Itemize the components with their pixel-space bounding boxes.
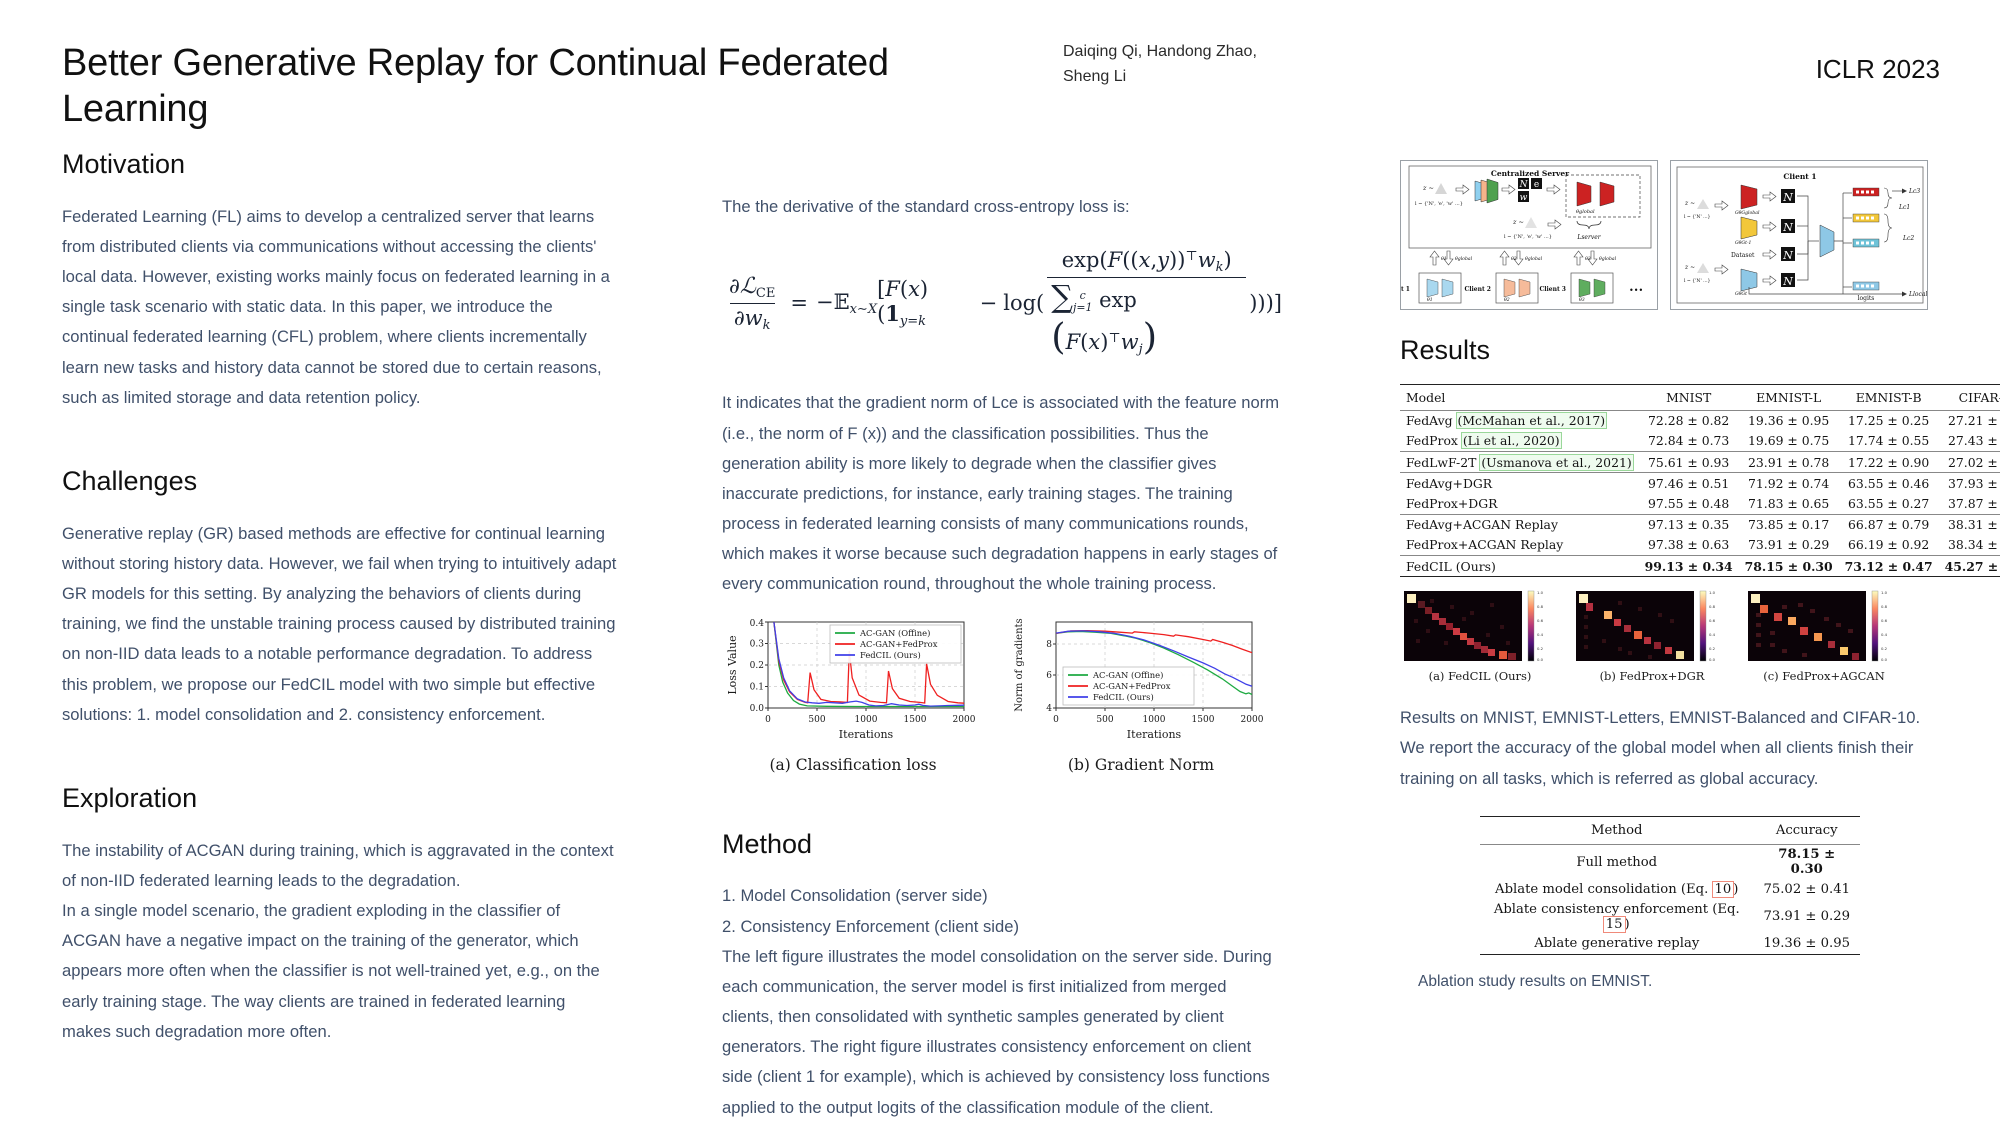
section-exploration: Exploration The instability of ACGAN dur… (62, 784, 617, 1047)
svg-text:Iterations: Iterations (839, 728, 894, 741)
svg-text:θ2: θ2 (1511, 256, 1517, 262)
results-cell: 19.69 ± 0.75 (1739, 431, 1839, 452)
svg-text:FedCIL (Ours): FedCIL (Ours) (860, 650, 921, 660)
svg-text:Llocal: Llocal (1908, 291, 1927, 298)
svg-text:0: 0 (765, 715, 771, 725)
svg-text:Lc1: Lc1 (1898, 204, 1910, 211)
results-model-name: FedProx+ACGAN Replay (1400, 535, 1639, 556)
challenges-paragraph: Generative replay (GR) based methods are… (62, 519, 617, 730)
svg-text:l ~ {'N', 'e', 'w' ...}: l ~ {'N', 'e', 'w' ...} (1504, 234, 1552, 240)
table-row: FedProx+DGR 97.55 ± 0.48 71.83 ± 0.65 63… (1400, 493, 2000, 514)
results-cell: 19.36 ± 0.95 (1739, 410, 1839, 431)
svg-text:θ3: θ3 (1579, 297, 1585, 303)
svg-text:θ1: θ1 (1427, 297, 1433, 303)
svg-text:1500: 1500 (1192, 715, 1215, 725)
results-col-emnist-b: EMNIST-B (1839, 384, 1939, 410)
svg-text:0.2: 0.2 (1709, 646, 1716, 651)
svg-text:0.4: 0.4 (750, 619, 765, 629)
svg-text:0.2: 0.2 (1881, 646, 1888, 651)
ablation-col-accuracy: Accuracy (1753, 816, 1860, 844)
method-item-2: 2. Consistency Enforcement (client side) (722, 912, 1282, 942)
svg-text:θ1: θ1 (1441, 256, 1447, 262)
results-cell: 37.87 ± 2.47 (1939, 493, 2000, 514)
svg-text:θ2: θ2 (1504, 297, 1510, 303)
results-cell: 63.55 ± 0.27 (1839, 493, 1939, 514)
client-architecture-diagram: Client 1 z ~ l ~ {'N' ...} GθGglobal GθG… (1670, 160, 1928, 310)
svg-text:0.6: 0.6 (1709, 618, 1716, 623)
ablation-caption: Ablation study results on EMNIST. (1400, 973, 1940, 991)
poster-root: Better Generative Replay for Continual F… (0, 0, 2000, 1125)
svg-text:N: N (1782, 275, 1793, 288)
results-cell: 63.55 ± 0.46 (1839, 473, 1939, 494)
svg-text:AC-GAN (Offine): AC-GAN (Offine) (1092, 670, 1163, 680)
confusion-matrix-a-caption: (a) FedCIL (Ours) (1400, 669, 1560, 683)
method-item-1: 1. Model Consolidation (server side) (722, 881, 1282, 911)
svg-text:l ~ {'N', 'e', 'w' ...}: l ~ {'N', 'e', 'w' ...} (1415, 201, 1463, 207)
svg-text:500: 500 (808, 715, 825, 725)
exploration-heading: Exploration (62, 784, 617, 814)
svg-text:GθGglobal: GθGglobal (1735, 210, 1760, 216)
svg-text:Loss Value: Loss Value (726, 635, 739, 694)
table-row: FedProx (Li et al., 2020) 72.84 ± 0.73 1… (1400, 431, 2000, 452)
results-cell: 27.02 ± 2.38 (1939, 452, 2000, 473)
svg-text:z ~: z ~ (1512, 218, 1524, 226)
svg-text:θglobal: θglobal (1599, 256, 1617, 262)
results-cell: 99.13 ± 0.34 (1639, 556, 1739, 577)
svg-text:1000: 1000 (855, 715, 878, 725)
svg-text:0.4: 0.4 (1881, 632, 1888, 637)
svg-text:1500: 1500 (904, 715, 927, 725)
ablation-method-tail: ) (1733, 882, 1738, 897)
confusion-matrix-c: 1.00.80.6 0.40.20.0 (c) FedProx+AGCAN (1744, 589, 1904, 683)
gradient-norm-caption: (b) Gradient Norm (1010, 756, 1272, 774)
results-citation: (Li et al., 2020) (1462, 433, 1561, 448)
classification-loss-plot: 0.0 0.1 0.2 0.3 0.4 (722, 614, 984, 742)
svg-text:0.1: 0.1 (750, 682, 764, 692)
results-cell: 73.85 ± 0.17 (1739, 514, 1839, 535)
svg-text:logits: logits (1858, 295, 1875, 302)
svg-text:l ~ {'N' ...}: l ~ {'N' ...} (1684, 278, 1711, 284)
results-cell: 17.74 ± 0.55 (1839, 431, 1939, 452)
svg-text:e: e (1534, 180, 1539, 190)
svg-text:N: N (1782, 249, 1793, 262)
column-middle: The the derivative of the standard cross… (722, 150, 1282, 1137)
svg-text:θglobal: θglobal (1455, 256, 1473, 262)
svg-text:•••: ••• (1629, 286, 1643, 295)
svg-text:8: 8 (1046, 640, 1052, 650)
derivative-intro: The the derivative of the standard cross… (722, 192, 1282, 222)
svg-text:0.0: 0.0 (1537, 657, 1544, 662)
equation-ref: 10 (1713, 882, 1734, 897)
results-model-name: FedAvg+DGR (1400, 473, 1639, 494)
table-row: Full method 78.15 ± 0.30 (1480, 844, 1860, 879)
results-cell: 27.43 ± 2.46 (1939, 431, 2000, 452)
results-caption: Results on MNIST, EMNIST-Letters, EMNIST… (1400, 703, 1930, 794)
section-challenges: Challenges Generative replay (GR) based … (62, 467, 617, 730)
confusion-matrix-c-svg: 1.00.80.6 0.40.20.0 (1744, 589, 1904, 663)
results-model-name: FedProx (1406, 433, 1462, 448)
author-line-2: Sheng Li (1063, 65, 1353, 90)
page-title: Better Generative Replay for Continual F… (62, 40, 962, 133)
svg-text:0.4: 0.4 (1537, 632, 1544, 637)
author-line-1: Daiqing Qi, Handong Zhao, (1063, 40, 1353, 65)
svg-text:Lc3: Lc3 (1908, 188, 1920, 195)
confusion-matrix-a: 1.00.80.6 0.40.20.0 (a) FedCIL (Ours) (1400, 589, 1560, 683)
table-row: FedLwF-2T (Usmanova et al., 2021) 75.61 … (1400, 452, 2000, 473)
svg-text:z ~: z ~ (1684, 264, 1695, 271)
ablation-method-name: Full method (1576, 855, 1657, 870)
ablation-method-name: Ablate consistency enforcement (Eq. (1494, 902, 1740, 917)
svg-text:0.8: 0.8 (1537, 604, 1544, 609)
ablation-table: Method Accuracy Full method 78.15 ± 0.30… (1480, 816, 1860, 955)
svg-text:Norm of gradients: Norm of gradients (1014, 618, 1025, 711)
client-diagram-svg: Client 1 z ~ l ~ {'N' ...} GθGglobal GθG… (1671, 161, 1928, 310)
confusion-matrix-b-caption: (b) FedProx+DGR (1572, 669, 1732, 683)
method-heading: Method (722, 830, 1282, 860)
svg-text:Lc2: Lc2 (1902, 235, 1914, 242)
motivation-paragraph: Federated Learning (FL) aims to develop … (62, 202, 617, 413)
figure-classification-loss: 0.0 0.1 0.2 0.3 0.4 (722, 614, 984, 774)
svg-text:4: 4 (1046, 704, 1052, 714)
column-right: Centralized Server z ~ l ~ {'N', 'e', 'w… (1400, 160, 1940, 991)
svg-text:0.2: 0.2 (750, 661, 764, 671)
ablation-accuracy: 19.36 ± 0.95 (1753, 934, 1860, 954)
results-cell: 17.25 ± 0.25 (1839, 410, 1939, 431)
table-row: Ablate consistency enforcement (Eq. 15) … (1480, 899, 1860, 934)
results-table: Model MNIST EMNIST-L EMNIST-B CIFAR-10 F… (1400, 384, 2000, 578)
ablation-method-name: Ablate generative replay (1480, 934, 1753, 954)
exploration-paragraph-2: In a single model scenario, the gradient… (62, 896, 617, 1047)
svg-text:0.8: 0.8 (1709, 604, 1716, 609)
ablation-accuracy: 78.15 ± 0.30 (1753, 844, 1860, 879)
results-cell: 97.46 ± 0.51 (1639, 473, 1739, 494)
results-cell: 71.83 ± 0.65 (1739, 493, 1839, 514)
svg-text:FedCIL (Ours): FedCIL (Ours) (1093, 692, 1154, 702)
results-citation: (McMahan et al., 2017) (1457, 413, 1607, 428)
results-cell: 75.61 ± 0.93 (1639, 452, 1739, 473)
svg-text:2000: 2000 (953, 715, 976, 725)
svg-text:AC-GAN+FedProx: AC-GAN+FedProx (859, 639, 938, 649)
svg-text:0.8: 0.8 (1881, 604, 1888, 609)
svg-text:1.0: 1.0 (1881, 590, 1888, 595)
results-model-name: FedCIL (Ours) (1400, 556, 1639, 577)
confusion-matrix-row: 1.00.80.6 0.40.20.0 (a) FedCIL (Ours) (1400, 589, 1904, 683)
author-list: Daiqing Qi, Handong Zhao, Sheng Li (1063, 40, 1353, 90)
results-col-cifar10: CIFAR-10 (1939, 384, 2000, 410)
svg-text:6: 6 (1046, 671, 1052, 681)
results-cell: 97.13 ± 0.35 (1639, 514, 1739, 535)
results-citation: (Usmanova et al., 2021) (1480, 455, 1632, 470)
results-model-name: FedProx+DGR (1400, 493, 1639, 514)
results-cell: 73.12 ± 0.47 (1839, 556, 1939, 577)
svg-text:N: N (1519, 180, 1529, 190)
results-model-name: FedAvg (1406, 413, 1457, 428)
results-col-emnist-l: EMNIST-L (1739, 384, 1839, 410)
results-cell: 27.21 ± 2.39 (1939, 410, 2000, 431)
ablation-method-tail: ) (1625, 917, 1630, 932)
svg-text:θ3: θ3 (1585, 256, 1591, 262)
results-cell: 97.38 ± 0.63 (1639, 535, 1739, 556)
table-row: FedAvg+DGR 97.46 ± 0.51 71.92 ± 0.74 63.… (1400, 473, 2000, 494)
svg-text:Iterations: Iterations (1127, 728, 1182, 741)
confusion-matrix-c-caption: (c) FedProx+AGCAN (1744, 669, 1904, 683)
results-cell: 73.91 ± 0.29 (1739, 535, 1839, 556)
results-cell: 97.55 ± 0.48 (1639, 493, 1739, 514)
svg-text:1.0: 1.0 (1709, 590, 1716, 595)
gradient-norm-svg: 4 6 8 (1010, 614, 1272, 742)
svg-text:Client 3: Client 3 (1539, 286, 1566, 293)
section-motivation: Motivation Federated Learning (FL) aims … (62, 150, 617, 413)
results-cell: 23.91 ± 0.78 (1739, 452, 1839, 473)
venue-label: ICLR 2023 (1816, 54, 1940, 85)
svg-text:0.0: 0.0 (750, 704, 765, 714)
results-heading: Results (1400, 336, 1940, 366)
results-model-name: FedLwF-2T (1406, 455, 1480, 470)
poster-header: Better Generative Replay for Continual F… (0, 0, 2000, 150)
svg-text:θglobal: θglobal (1525, 256, 1543, 262)
results-col-mnist: MNIST (1639, 384, 1739, 410)
svg-text:AC-GAN (Offine): AC-GAN (Offine) (859, 628, 930, 638)
exploration-figures: 0.0 0.1 0.2 0.3 0.4 (722, 614, 1282, 774)
svg-text:Client 2: Client 2 (1464, 286, 1491, 293)
results-cell: 45.27 ± 2.42 (1939, 556, 2000, 577)
svg-text:Client 1: Client 1 (1401, 286, 1410, 293)
svg-text:w: w (1520, 193, 1528, 203)
column-left: Motivation Federated Learning (FL) aims … (62, 150, 617, 1101)
svg-text:0.6: 0.6 (1881, 618, 1888, 623)
cross-entropy-derivative-equation: ∂ℒCE ∂wk = −𝔼x∼X [F(x)(1y=k − log( exp(F… (722, 248, 1282, 358)
svg-text:0.0: 0.0 (1709, 657, 1716, 662)
results-cell: 66.19 ± 0.92 (1839, 535, 1939, 556)
svg-text:0.3: 0.3 (750, 639, 765, 649)
table-row: FedAvg+ACGAN Replay 97.13 ± 0.35 73.85 ±… (1400, 514, 2000, 535)
svg-text:0.0: 0.0 (1881, 657, 1888, 662)
gradient-norm-plot: 4 6 8 (1010, 614, 1272, 742)
classification-loss-legend: AC-GAN (Offine) AC-GAN+FedProx FedCIL (O… (830, 625, 961, 663)
svg-text:GθGt: GθGt (1735, 291, 1747, 297)
ablation-col-method: Method (1480, 816, 1753, 844)
figure-gradient-norm: 4 6 8 (1010, 614, 1272, 774)
gradient-norm-legend: AC-GAN (Offine) AC-GAN+FedProx FedCIL (O… (1063, 667, 1194, 705)
svg-text:1000: 1000 (1143, 715, 1166, 725)
section-method: Method 1. Model Consolidation (server si… (722, 830, 1282, 1123)
results-cell: 72.28 ± 0.82 (1639, 410, 1739, 431)
svg-text:θglobal: θglobal (1576, 209, 1595, 215)
confusion-matrix-a-svg: 1.00.80.6 0.40.20.0 (1400, 589, 1560, 663)
table-row: FedCIL (Ours) 99.13 ± 0.34 78.15 ± 0.30 … (1400, 556, 2000, 577)
challenges-heading: Challenges (62, 467, 617, 497)
svg-text:Lserver: Lserver (1576, 234, 1601, 241)
table-row: Ablate generative replay 19.36 ± 0.95 (1480, 934, 1860, 954)
svg-text:AC-GAN+FedProx: AC-GAN+FedProx (1092, 681, 1171, 691)
classification-loss-caption: (a) Classification loss (722, 756, 984, 774)
svg-text:Dataset: Dataset (1731, 252, 1755, 259)
table-row: FedAvg (McMahan et al., 2017) 72.28 ± 0.… (1400, 410, 2000, 431)
svg-text:l ~ {'N' ...}: l ~ {'N' ...} (1684, 214, 1711, 220)
method-paragraph: The left figure illustrates the model co… (722, 942, 1282, 1123)
results-cell: 38.31 ± 2.64 (1939, 514, 2000, 535)
svg-text:z ~: z ~ (1684, 200, 1695, 207)
results-model-name: FedAvg+ACGAN Replay (1400, 514, 1639, 535)
svg-text:0.2: 0.2 (1537, 646, 1544, 651)
svg-text:1.0: 1.0 (1537, 590, 1544, 595)
results-cell: 72.84 ± 0.73 (1639, 431, 1739, 452)
svg-text:0.4: 0.4 (1709, 632, 1716, 637)
exploration-paragraph-1: The instability of ACGAN during training… (62, 836, 617, 896)
classification-loss-svg: 0.0 0.1 0.2 0.3 0.4 (722, 614, 984, 742)
results-cell: 17.22 ± 0.90 (1839, 452, 1939, 473)
results-cell: 66.87 ± 0.79 (1839, 514, 1939, 535)
motivation-heading: Motivation (62, 150, 617, 180)
svg-text:0.6: 0.6 (1537, 618, 1544, 623)
svg-text:N: N (1782, 191, 1793, 204)
svg-text:z ~: z ~ (1422, 184, 1434, 192)
svg-text:Centralized Server: Centralized Server (1491, 169, 1570, 178)
results-cell: 37.93 ± 2.27 (1939, 473, 2000, 494)
ablation-method-name: Ablate model consolidation (Eq. (1495, 882, 1712, 897)
results-cell: 38.34 ± 2.55 (1939, 535, 2000, 556)
results-cell: 78.15 ± 0.30 (1739, 556, 1839, 577)
equation-ref: 15 (1604, 917, 1625, 932)
table-row: Ablate model consolidation (Eq. 10) 75.0… (1480, 880, 1860, 900)
server-architecture-diagram: Centralized Server z ~ l ~ {'N', 'e', 'w… (1400, 160, 1658, 310)
derivative-explanation: It indicates that the gradient norm of L… (722, 388, 1282, 599)
table-row: FedProx+ACGAN Replay 97.38 ± 0.63 73.91 … (1400, 535, 2000, 556)
ablation-accuracy: 75.02 ± 0.41 (1753, 880, 1860, 900)
architecture-diagrams: Centralized Server z ~ l ~ {'N', 'e', 'w… (1400, 160, 1940, 310)
server-diagram-svg: Centralized Server z ~ l ~ {'N', 'e', 'w… (1401, 161, 1658, 310)
svg-text:N: N (1782, 221, 1793, 234)
svg-text:GθGt-1: GθGt-1 (1735, 240, 1752, 246)
svg-text:Client 1: Client 1 (1783, 172, 1816, 181)
ablation-accuracy: 73.91 ± 0.29 (1753, 899, 1860, 934)
svg-text:2000: 2000 (1241, 715, 1264, 725)
svg-text:0: 0 (1053, 715, 1059, 725)
confusion-matrix-b-svg: 1.00.80.6 0.40.20.0 (1572, 589, 1732, 663)
results-col-model: Model (1400, 384, 1639, 410)
svg-text:500: 500 (1096, 715, 1113, 725)
confusion-matrix-b: 1.00.80.6 0.40.20.0 (b) FedProx+DGR (1572, 589, 1732, 683)
results-cell: 71.92 ± 0.74 (1739, 473, 1839, 494)
